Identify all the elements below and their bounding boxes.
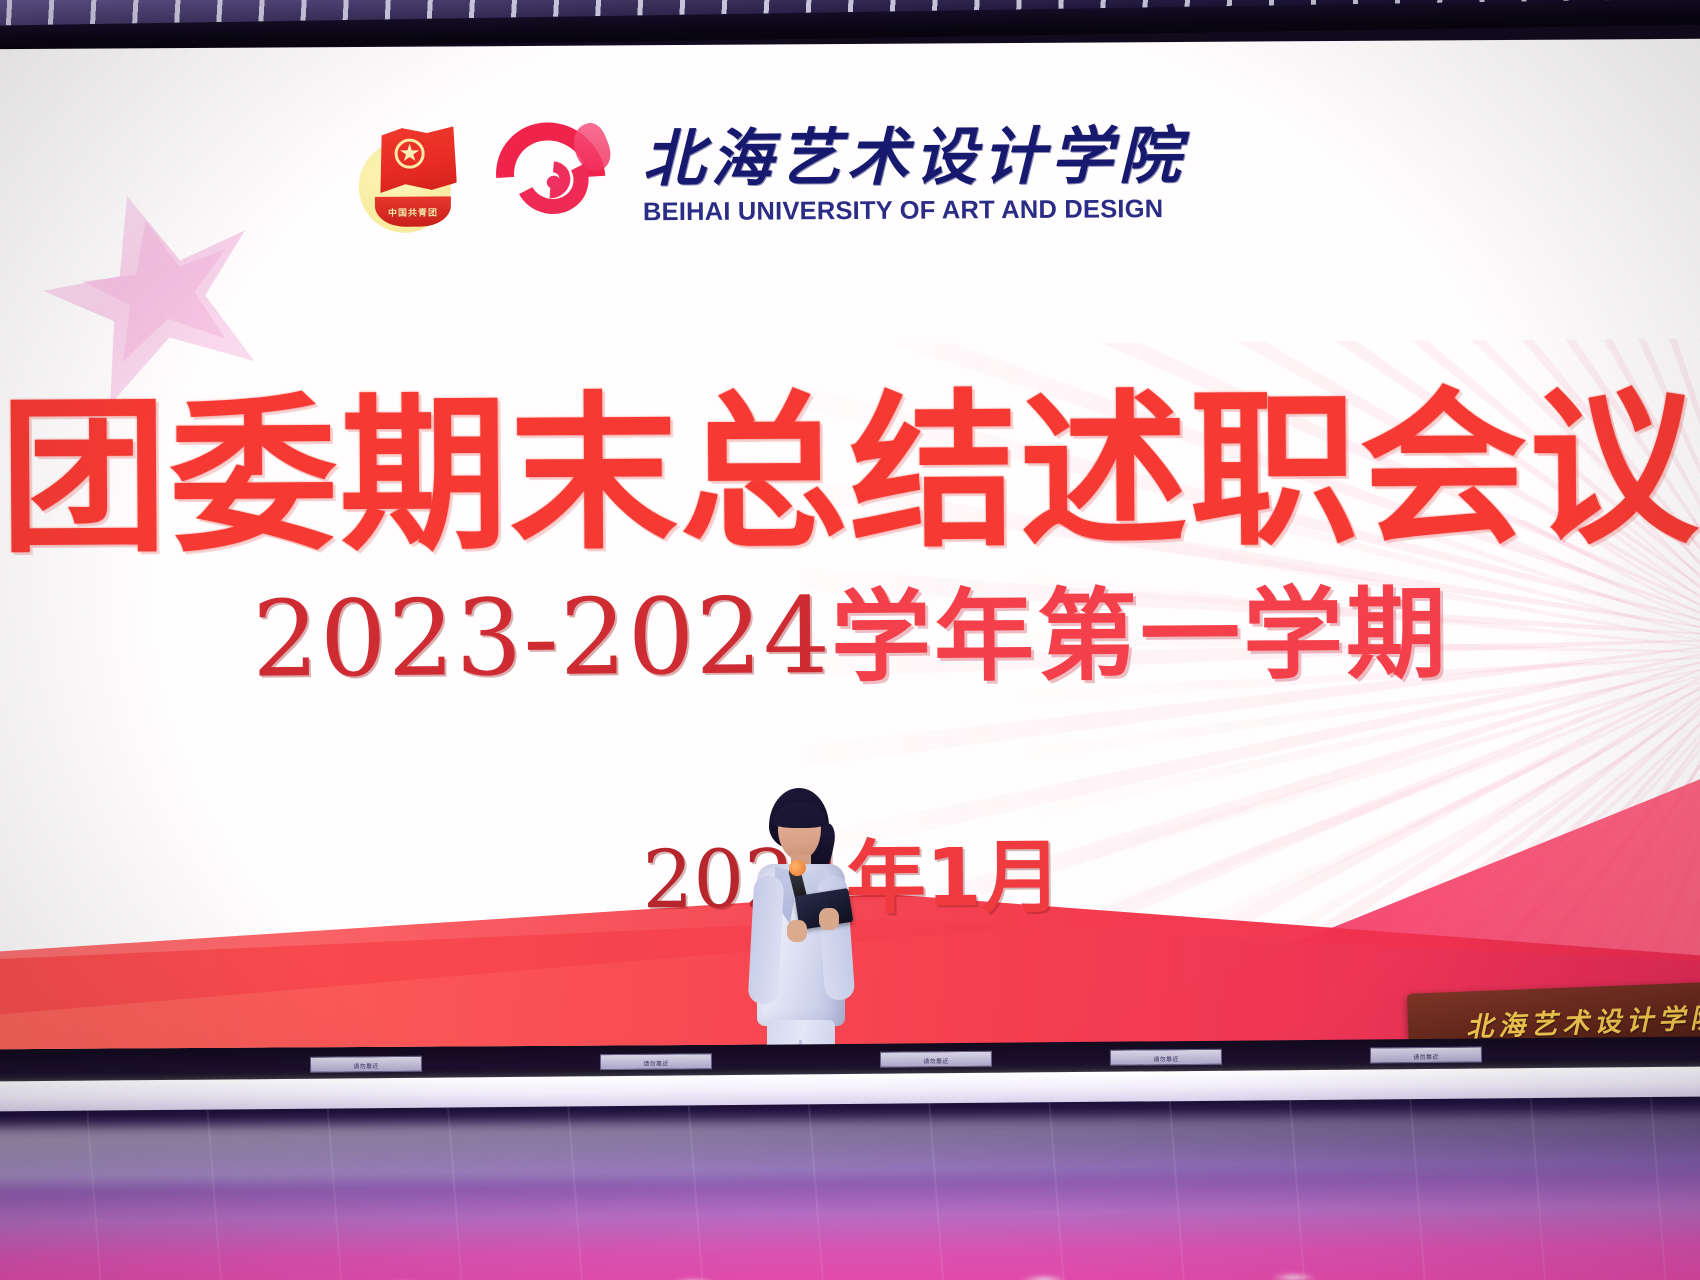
university-name-cn: 北海艺术设计学院 (642, 124, 1186, 189)
university-name-block: 北海艺术设计学院 BEIHAI UNIVERSITY OF ART AND DE… (642, 124, 1187, 226)
date-suffix: 年1月 (846, 831, 1062, 925)
floor-light-spot (1271, 1273, 1317, 1280)
floor-light-spot (1021, 1275, 1067, 1280)
presenter-hand-left (787, 920, 807, 942)
meeting-title: 团委期末总结述职会议 (0, 384, 1700, 562)
presenter-hand-right (819, 908, 839, 930)
subtitle-year-range: 2023-2024 (252, 584, 832, 693)
stage-edge-sign-text: 请勿靠近 (881, 1056, 991, 1066)
stage-edge-sign-text: 请勿靠近 (601, 1058, 711, 1068)
header-logo-row: 中国共青团 北海艺术设计学院 BEIHAI UNIVERSITY OF ART … (352, 114, 1187, 239)
subtitle-term: 学年第一学期 (831, 584, 1450, 688)
stage-edge-sign-text: 请勿靠近 (1111, 1054, 1221, 1064)
stage-edge-sign: 请勿靠近 (1110, 1049, 1222, 1066)
stage-edge-sign-text: 请勿靠近 (311, 1061, 421, 1071)
stage-photo: 中国共青团 北海艺术设计学院 BEIHAI UNIVERSITY OF ART … (0, 0, 1700, 1280)
stage-edge-sign: 请勿靠近 (310, 1056, 422, 1073)
floor-reflection-lines (0, 1096, 1700, 1280)
spiral-core (547, 176, 561, 189)
communist-youth-league-emblem-icon: 中国共青团 (352, 118, 471, 239)
stage-floor (0, 1096, 1700, 1280)
stage-edge-sign: 请勿靠近 (1370, 1046, 1482, 1063)
cyl-ribbon-label: 中国共青团 (375, 196, 451, 226)
stage-edge-sign: 请勿靠近 (600, 1053, 712, 1070)
stage-edge-sign: 请勿靠近 (880, 1051, 992, 1068)
beihai-spiral-logo-icon (488, 117, 619, 238)
university-name-en: BEIHAI UNIVERSITY OF ART AND DESIGN (643, 194, 1187, 226)
stage-edge-sign-text: 请勿靠近 (1371, 1051, 1481, 1061)
meeting-subtitle: 2023-2024 学年第一学期 (252, 580, 1450, 692)
